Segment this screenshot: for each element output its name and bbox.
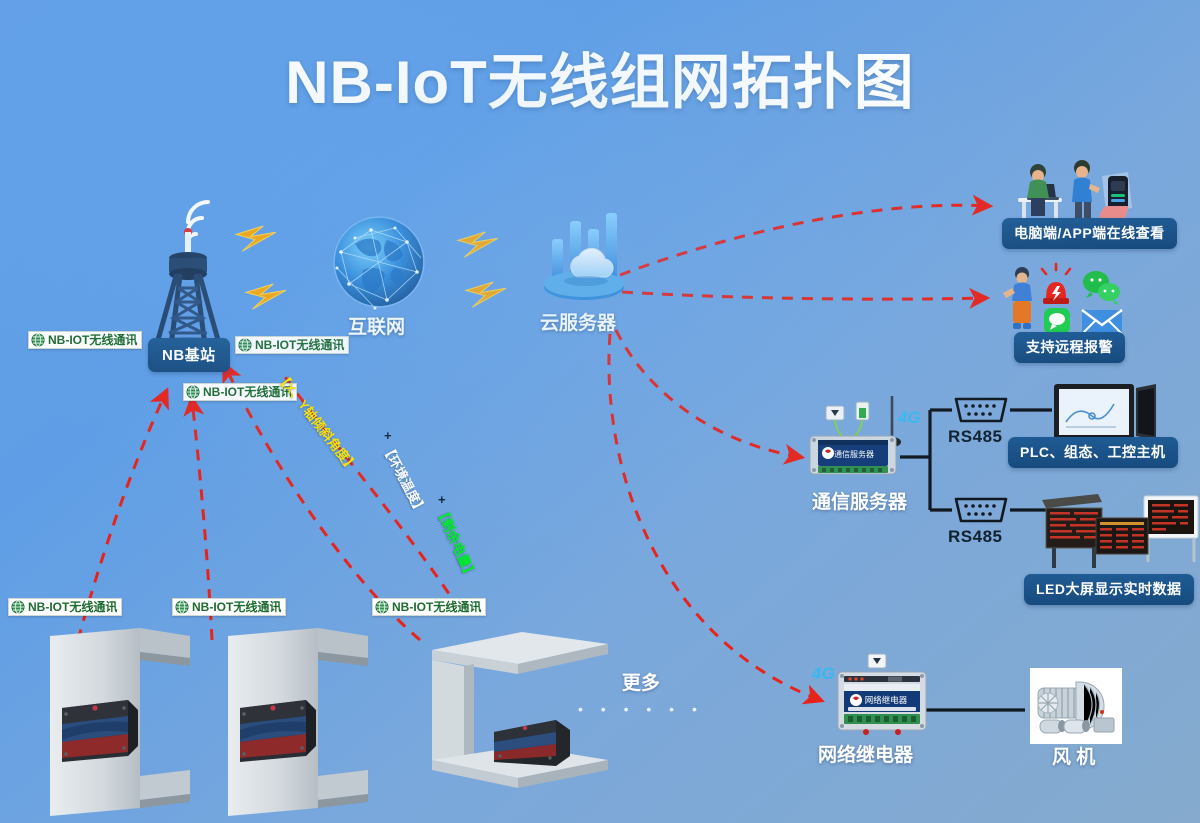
pc-app-label-wrap: 电脑端/APP端在线查看 — [1002, 218, 1177, 249]
rs485-label-bottom: RS485 — [948, 527, 1002, 547]
cell-tower-icon — [128, 188, 258, 348]
comm-server-label-wrap: 通信服务器 — [812, 487, 907, 514]
rs485-label-top: RS485 — [948, 427, 1002, 447]
measurement-plus-1: + — [384, 428, 392, 443]
nb-badge-upper-right-wrap: NB-IOT无线通讯 — [235, 336, 349, 357]
nb-badge-sensor3-wrap: NB-IOT无线通讯 — [372, 598, 486, 619]
internet-label: 互联网 — [348, 317, 405, 338]
measurement-label-battery: 【剩余电量】 — [433, 503, 482, 582]
page-title: NB-IoT无线组网拓扑图 — [0, 34, 1200, 121]
plc-host-label-wrap: PLC、组态、工控主机 — [1008, 437, 1178, 468]
globe-icon — [375, 600, 389, 614]
led-screen-label: LED大屏显示实时数据 — [1024, 574, 1194, 605]
globe-network-icon — [325, 208, 433, 316]
topology-canvas: NB-IoT无线组网拓扑图 — [0, 0, 1200, 823]
blower-fan-icon — [1030, 668, 1122, 744]
fan-label: 风 机 — [1052, 747, 1095, 768]
remote-alarm-label: 支持远程报警 — [1014, 332, 1125, 363]
link-cloud-to-pcapp — [620, 205, 988, 275]
rs485-connector-icon — [952, 495, 1010, 525]
more-label: 更多 — [578, 668, 704, 695]
rs485-connector-icon — [952, 395, 1010, 425]
svg-text:网络继电器: 网络继电器 — [865, 695, 908, 705]
communication-server-icon: 通信服务器 — [800, 392, 920, 484]
globe-icon — [238, 338, 252, 352]
nb-badge-sensor1-wrap: NB-IOT无线通讯 — [8, 598, 122, 619]
network-relay-icon: 网络继电器 — [826, 652, 936, 736]
nb-iot-badge: NB-IOT无线通讯 — [235, 336, 349, 354]
lightning-icon — [466, 282, 506, 307]
alarm-wechat-sms-email-icon — [1000, 262, 1140, 334]
globe-icon — [175, 600, 189, 614]
nb-iot-badge-label: NB-IOT无线通讯 — [392, 600, 481, 614]
nb-iot-badge-label: NB-IOT无线通讯 — [28, 600, 117, 614]
industrial-monitor-icon — [1052, 382, 1162, 444]
globe-icon — [31, 333, 45, 347]
led-screen-label-wrap: LED大屏显示实时数据 — [1024, 574, 1194, 605]
cloud-server-label: 云服务器 — [540, 313, 616, 334]
measurement-label-tilt: 【X、Y轴倾斜角度】 — [273, 368, 363, 475]
nb-iot-badge: NB-IOT无线通讯 — [372, 598, 486, 616]
base-station-label-wrap: NB基站 — [148, 338, 230, 372]
sensor-bracket-2 — [218, 618, 408, 818]
link-cloud-to-alarm — [622, 292, 985, 299]
plc-host-label: PLC、组态、工控主机 — [1008, 437, 1178, 468]
nb-badge-left-wrap: NB-IOT无线通讯 — [28, 331, 142, 352]
base-station-label: NB基站 — [148, 338, 230, 372]
nb-badge-sensor2-wrap: NB-IOT无线通讯 — [172, 598, 286, 619]
comm-server-4g-badge: 4G — [898, 408, 921, 428]
nb-iot-badge-label: NB-IOT无线通讯 — [48, 333, 137, 347]
nb-iot-badge-label: NB-IOT无线通讯 — [192, 600, 281, 614]
net-relay-label-wrap: 网络继电器 — [818, 740, 913, 767]
link-cloud-to-relay — [609, 334, 820, 700]
cloud-server-label-wrap: 云服务器 — [540, 308, 616, 335]
link-cloud-to-commserver — [616, 330, 800, 457]
measurement-label-temperature: 【环境温度】 — [378, 440, 431, 518]
people-devices-icon — [1010, 150, 1140, 225]
more-dots: • • • • • • — [578, 701, 704, 717]
internet-label-wrap: 互联网 — [348, 312, 405, 339]
more-group: 更多 • • • • • • — [578, 668, 704, 717]
sensor-bracket-1 — [40, 618, 230, 818]
led-billboard-icon — [1040, 484, 1200, 570]
relay-4g-badge: 4G — [812, 664, 835, 684]
nb-iot-badge: NB-IOT无线通讯 — [8, 598, 122, 616]
globe-icon — [11, 600, 25, 614]
remote-alarm-label-wrap: 支持远程报警 — [1014, 332, 1125, 363]
nb-iot-badge-label: NB-IOT无线通讯 — [255, 338, 344, 352]
cloud-server-icon — [528, 205, 638, 315]
nb-iot-badge: NB-IOT无线通讯 — [172, 598, 286, 616]
nb-iot-badge: NB-IOT无线通讯 — [28, 331, 142, 349]
net-relay-label: 网络继电器 — [818, 745, 913, 766]
svg-text:通信服务器: 通信服务器 — [834, 449, 874, 459]
lightning-icon — [458, 232, 498, 257]
fan-label-wrap: 风 机 — [1052, 742, 1095, 769]
globe-icon — [186, 385, 200, 399]
pc-app-label: 电脑端/APP端在线查看 — [1002, 218, 1177, 249]
comm-server-label: 通信服务器 — [812, 492, 907, 513]
